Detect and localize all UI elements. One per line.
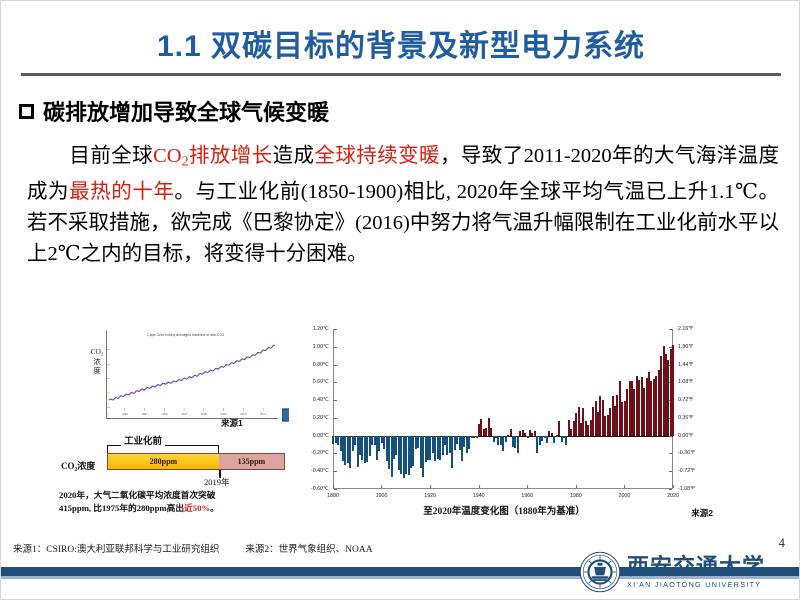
page-title: 1.1 双碳目标的背景及新型电力系统 [1, 21, 800, 65]
svg-text:2010: 2010 [240, 412, 247, 416]
y-tick-fahrenheit: 1.08℉ [673, 379, 693, 385]
footer-source-1: 来源1：CSIRO:澳大利亚联邦科学与工业研究组织 [13, 545, 219, 555]
svg-text:1985: 1985 [141, 412, 148, 416]
y-tick-celsius: 0.00℃ [313, 433, 333, 439]
x-tick-year: 1920 [424, 489, 436, 499]
title-divider [21, 73, 781, 76]
caption-line-1: 2020年，大气二氧化碳平均浓度首次突破 [59, 490, 215, 500]
logo-text-block: 西安交通大学 XI'AN JIAOTONG UNIVERSITY [627, 556, 765, 588]
co2-inline-label: CO2排放增长 [153, 145, 273, 167]
temperature-plot-area: 1.20℃1.00℃0.80℃0.60℃0.40℃0.20℃0.00℃-0.20… [333, 329, 673, 489]
right-figure: 1.20℃1.00℃0.80℃0.60℃0.40℃0.20℃0.00℃-0.20… [289, 321, 719, 521]
svg-text:1995: 1995 [181, 412, 188, 416]
y-tick-fahrenheit: 1.80℉ [673, 344, 693, 350]
university-logo: 西安交通大学 XI'AN JIAOTONG UNIVERSITY [579, 549, 789, 595]
right-figure-caption: 至2020年温度变化图（1880年为基准） [289, 503, 719, 517]
increase-value: 135ppm [238, 457, 266, 466]
section-subheading: 碳排放增加导致全球气候变暖 [19, 95, 329, 127]
footer-source-2: 来源2：世界气象组织、NOAA [245, 545, 372, 555]
global-warming-highlight: 全球持续变暖 [314, 145, 440, 167]
caption-line-2b: 。 [210, 503, 219, 513]
y-tick-fahrenheit: 0.72℉ [673, 397, 693, 403]
temperature-bar [546, 436, 548, 443]
body-paragraph: 目前全球CO2排放增长造成全球持续变暖，导致了2011-2020年的大气海洋温度… [27, 141, 779, 270]
co2-subscript: 2 [182, 154, 189, 169]
y-tick-fahrenheit: 2.16℉ [673, 326, 693, 332]
temperature-bar [527, 436, 529, 438]
x-tick-year: 1960 [521, 489, 533, 499]
y-tick-fahrenheit: 0.36℉ [673, 415, 693, 421]
y-tick-fahrenheit: -0.36℉ [673, 450, 695, 456]
square-bullet-icon [19, 104, 34, 119]
ppm-bar-track: 280ppm 135ppm [107, 453, 285, 470]
temperature-bar [510, 429, 512, 436]
left-axis-line [333, 329, 334, 489]
y-tick-celsius: -0.40℃ [311, 468, 333, 474]
y-tick-celsius: -0.20℃ [311, 450, 333, 456]
university-name-en: XI'AN JIAOTONG UNIVERSITY [627, 581, 765, 588]
co2-line-path: 4003803603403201975198019851990199520002… [107, 331, 279, 419]
university-seal-icon [579, 551, 621, 593]
svg-text:2000: 2000 [201, 412, 208, 416]
temperature-bar [672, 345, 674, 436]
svg-text:1990: 1990 [161, 412, 168, 416]
svg-text:1975: 1975 [107, 412, 109, 416]
subheading-label: 碳排放增加导致全球气候变暖 [43, 95, 329, 127]
y-tick-celsius: 0.40℃ [313, 397, 333, 403]
year-marker-label: 2019年 [204, 476, 230, 488]
emission-growth-text: 排放增长 [189, 145, 273, 167]
caption-line-2a: 415ppm, 比1975年的280ppm高出 [59, 503, 184, 513]
temperature-bar [476, 436, 478, 438]
y-tick-fahrenheit: 1.44℉ [673, 362, 693, 368]
y-tick-fahrenheit: 0.00℉ [673, 433, 693, 439]
bar-compare-label: CO₂浓度 [61, 459, 95, 472]
co2-y-axis-label: CO₂浓度 [90, 347, 104, 376]
footer-sources: 来源1：CSIRO:澳大利亚联邦科学与工业研究组织来源2：世界气象组织、NOAA [13, 541, 373, 555]
body-segment-2: 造成 [273, 145, 315, 167]
co2-bar-comparison: CO₂浓度 工业化前 280ppm 135ppm 2019年 [61, 437, 289, 483]
temperature-bar [490, 428, 492, 436]
y-tick-celsius: 0.20℃ [313, 415, 333, 421]
hottest-decade-highlight: 最热的十年 [69, 181, 174, 203]
co2-plot-area: Cape Grim hourly averaged baseline in si… [106, 331, 278, 419]
x-tick-year: 2020 [667, 489, 679, 499]
pre-industrial-bar: 280ppm [108, 454, 219, 469]
svg-text:1980: 1980 [122, 412, 129, 416]
university-name-cn: 西安交通大学 [627, 556, 765, 578]
y-tick-celsius: 0.60℃ [313, 379, 333, 385]
x-tick-year: 1880 [327, 489, 339, 499]
temperature-bar [558, 421, 560, 435]
temperature-bar [517, 436, 519, 453]
caption-highlight: 近50% [184, 503, 210, 513]
figures-area: CO₂浓度 Cape Grim hourly averaged baseline… [1, 321, 800, 536]
co2-text: CO [153, 145, 181, 167]
left-figure: CO₂浓度 Cape Grim hourly averaged baseline… [61, 329, 289, 529]
y-tick-celsius: 1.00℃ [313, 344, 333, 350]
x-tick-year: 1980 [570, 489, 582, 499]
body-segment-1: 目前全球 [69, 145, 153, 167]
x-tick-year: 2000 [619, 489, 631, 499]
svg-text:2015: 2015 [260, 412, 267, 416]
y-tick-celsius: 1.20℃ [313, 326, 333, 332]
x-tick-year: 1900 [376, 489, 388, 499]
y-tick-celsius: 0.80℃ [313, 362, 333, 368]
left-figure-caption: 2020年，大气二氧化碳平均浓度首次突破 415ppm, 比1975年的280p… [59, 489, 299, 514]
x-tick-year: 1940 [473, 489, 485, 499]
pre-industrial-label: 工业化前 [121, 433, 165, 447]
slide: 1.1 双碳目标的背景及新型电力系统 碳排放增加导致全球气候变暖 目前全球CO2… [0, 0, 800, 600]
left-figure-source: 来源1 [221, 417, 243, 429]
pre-industrial-value: 280ppm [150, 457, 178, 466]
svg-text:2005: 2005 [220, 412, 227, 416]
temperature-bar [565, 436, 567, 445]
co2-line-chart: CO₂浓度 Cape Grim hourly averaged baseline… [89, 331, 279, 427]
right-figure-source: 来源2 [691, 507, 713, 519]
y-tick-fahrenheit: -0.72℉ [673, 468, 695, 474]
increase-bar: 135ppm [219, 454, 284, 469]
